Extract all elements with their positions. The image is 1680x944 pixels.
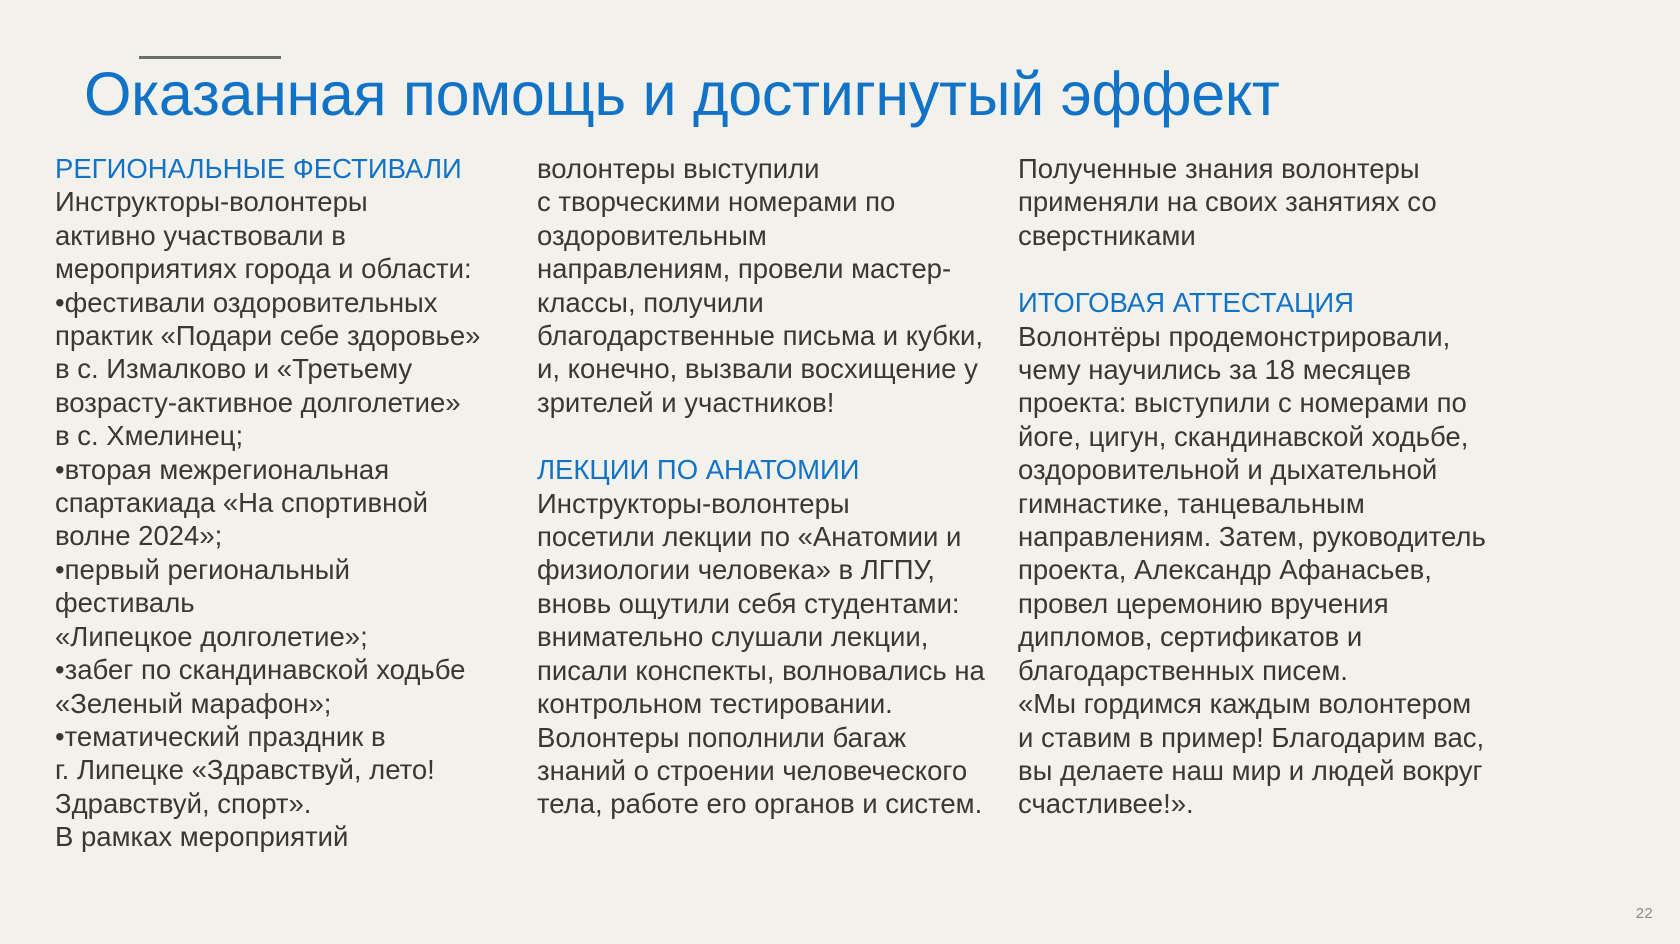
content-column-3: Полученные знания волонтеры применяли на… (1018, 152, 1518, 821)
section-body-anatomy-lectures: Инструкторы-волонтеры посетили лекции по… (537, 487, 1007, 821)
section-heading-anatomy-lectures: ЛЕКЦИИ ПО АНАТОМИИ (537, 453, 1007, 486)
content-column-2: волонтеры выступили с творческими номера… (537, 152, 1007, 821)
section-body-knowledge-applied: Полученные знания волонтеры применяли на… (1018, 152, 1518, 252)
page-number: 22 (1636, 905, 1653, 922)
section-heading-regional-festivals: РЕГИОНАЛЬНЫЕ ФЕСТИВАЛИ (55, 152, 525, 185)
page-title: Оказанная помощь и достигнутый эффект (84, 62, 1584, 128)
section-body-regional-festivals: Инструкторы-волонтеры активно участвовал… (55, 185, 525, 853)
content-column-1: РЕГИОНАЛЬНЫЕ ФЕСТИВАЛИ Инструкторы-волон… (55, 152, 525, 854)
section-body-festivals-continued: волонтеры выступили с творческими номера… (537, 152, 1007, 419)
title-rule-decoration (139, 56, 281, 59)
section-body-final-certification: Волонтёры продемонстрировали, чему научи… (1018, 320, 1518, 821)
content-columns: РЕГИОНАЛЬНЫЕ ФЕСТИВАЛИ Инструкторы-волон… (0, 152, 1680, 882)
slide: Оказанная помощь и достигнутый эффект РЕ… (0, 0, 1680, 944)
section-heading-final-certification: ИТОГОВАЯ АТТЕСТАЦИЯ (1018, 286, 1518, 319)
